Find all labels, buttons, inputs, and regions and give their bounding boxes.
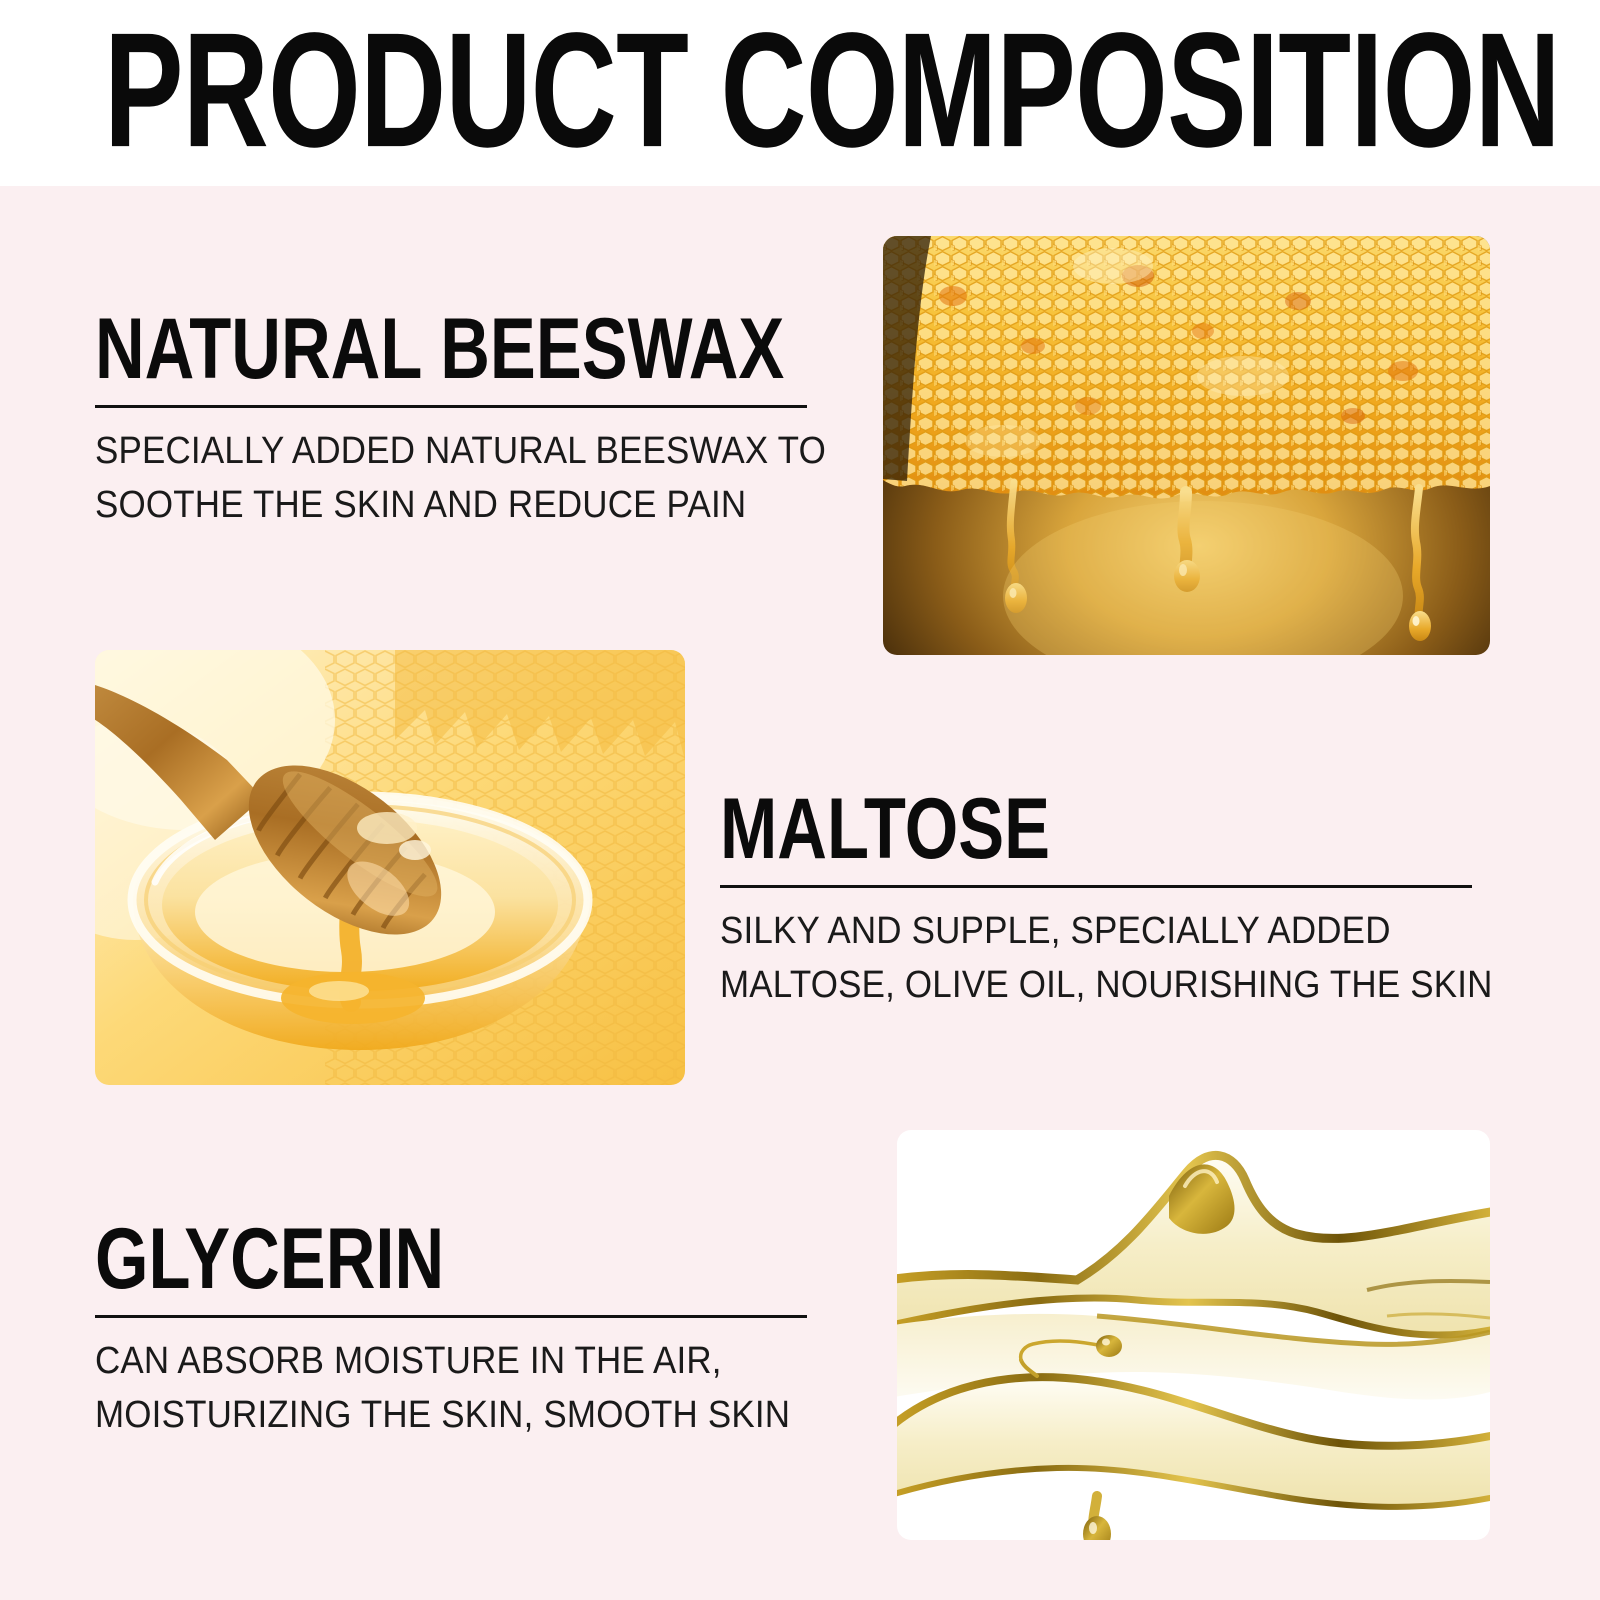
- section-divider-beeswax: [95, 405, 807, 408]
- body-line: MOISTURIZING THE SKIN, SMOOTH SKIN: [95, 1388, 750, 1442]
- section-body-beeswax: SPECIALLY ADDED NATURAL BEESWAX TO SOOTH…: [95, 424, 750, 532]
- section-body-maltose: SILKY AND SUPPLE, SPECIALLY ADDED MALTOS…: [720, 904, 1412, 1012]
- section-heading-maltose: MALTOSE: [720, 785, 1322, 873]
- product-composition-infographic: PRODUCT COMPOSITION NATURAL BEESWAX SPEC…: [0, 0, 1600, 1600]
- section-beeswax: NATURAL BEESWAX SPECIALLY ADDED NATURAL …: [95, 305, 807, 532]
- body-line: SPECIALLY ADDED NATURAL BEESWAX TO: [95, 424, 750, 478]
- honey-bowl-illustration: [95, 650, 685, 1085]
- section-heading-glycerin: GLYCERIN: [95, 1215, 665, 1303]
- title-banner: PRODUCT COMPOSITION: [0, 0, 1600, 186]
- section-glycerin: GLYCERIN CAN ABSORB MOISTURE IN THE AIR,…: [95, 1215, 807, 1442]
- image-flowing-golden-oil: [897, 1130, 1490, 1540]
- image-honeycomb-dripping-honey: [883, 236, 1490, 655]
- body-line: SOOTHE THE SKIN AND REDUCE PAIN: [95, 478, 750, 532]
- honeycomb-illustration: [883, 236, 1490, 655]
- body-line: SILKY AND SUPPLE, SPECIALLY ADDED: [720, 904, 1412, 958]
- oil-flow-illustration: [897, 1130, 1490, 1540]
- page-title: PRODUCT COMPOSITION: [104, 8, 1162, 171]
- body-line: CAN ABSORB MOISTURE IN THE AIR,: [95, 1334, 750, 1388]
- section-heading-beeswax: NATURAL BEESWAX: [95, 305, 665, 393]
- section-divider-glycerin: [95, 1315, 807, 1318]
- section-divider-maltose: [720, 885, 1472, 888]
- body-line: MALTOSE, OLIVE OIL, NOURISHING THE SKIN: [720, 958, 1412, 1012]
- section-body-glycerin: CAN ABSORB MOISTURE IN THE AIR, MOISTURI…: [95, 1334, 750, 1442]
- section-maltose: MALTOSE SILKY AND SUPPLE, SPECIALLY ADDE…: [720, 785, 1472, 1012]
- image-honey-dipper-bowl: [95, 650, 685, 1085]
